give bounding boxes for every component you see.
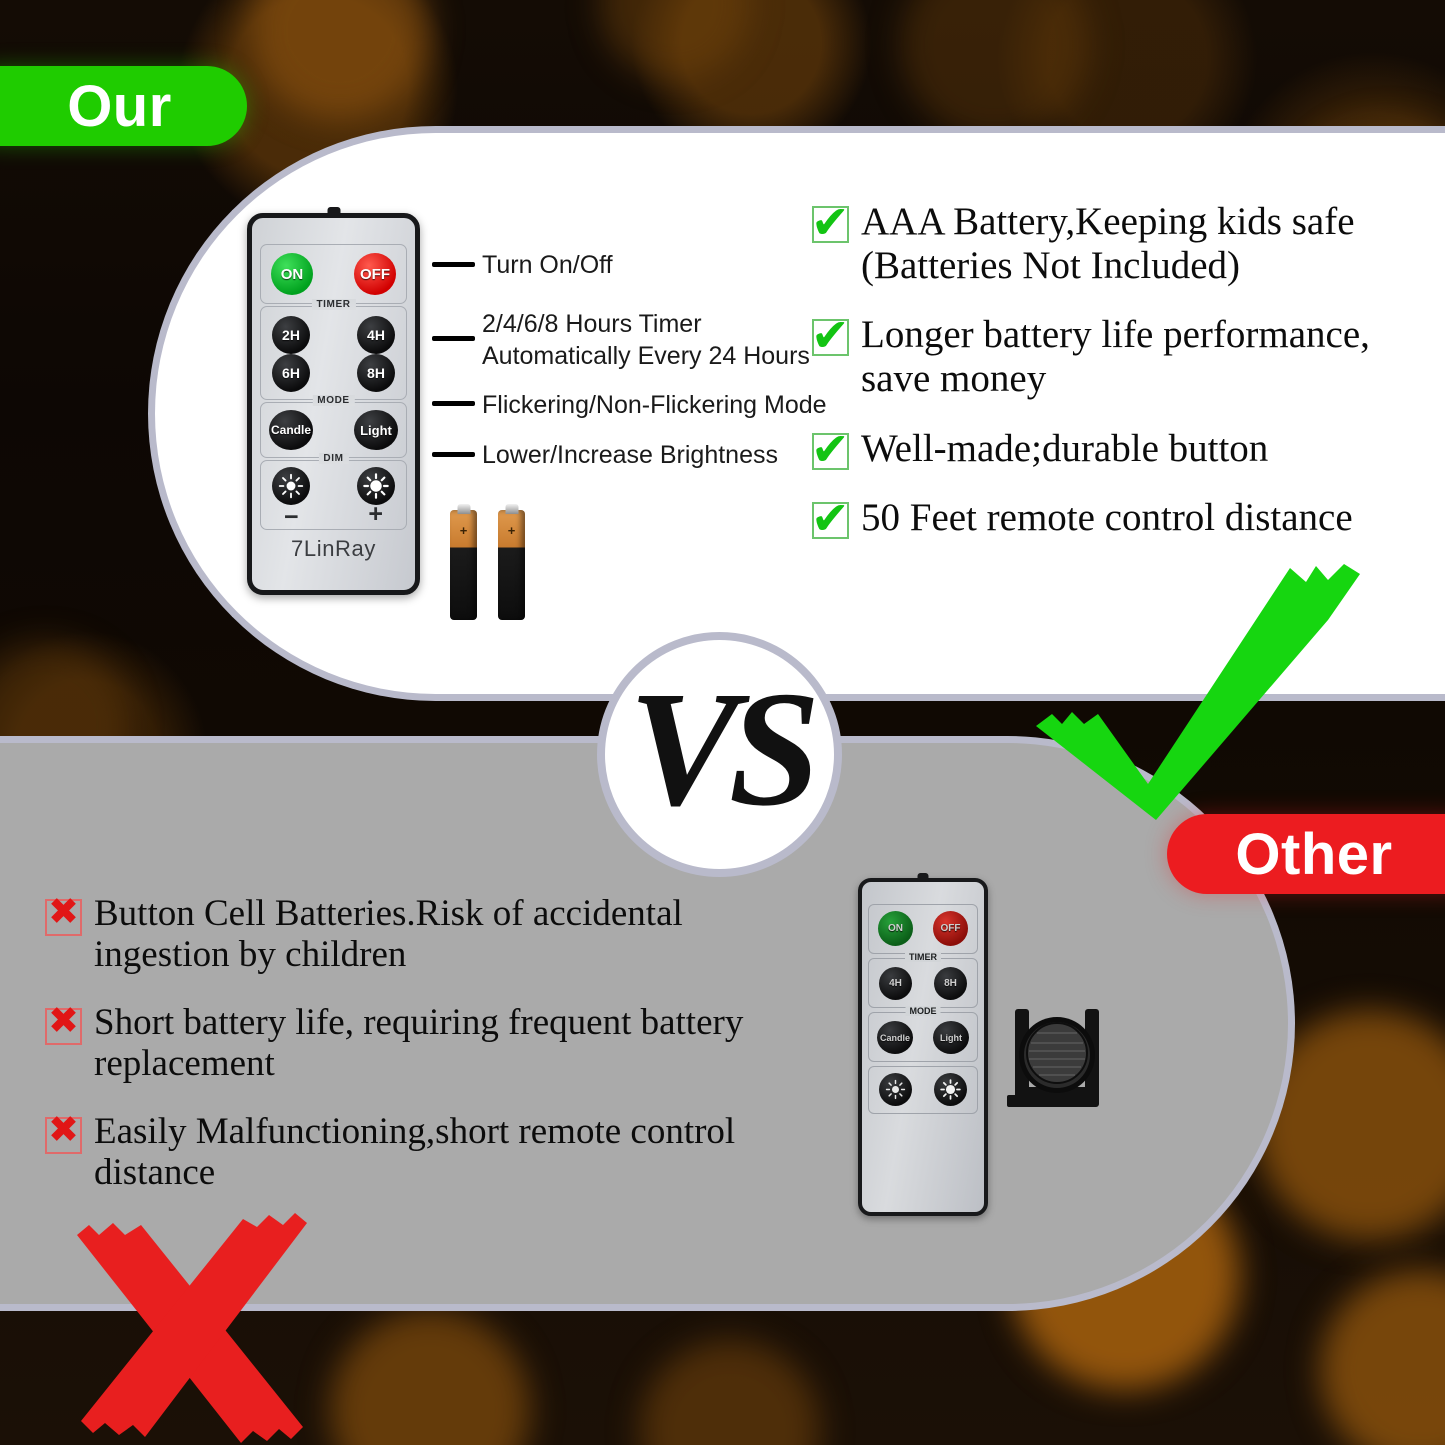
mode-label: MODE (906, 1006, 941, 1016)
brightness-low-icon (885, 1079, 906, 1100)
dim-label: DIM (318, 453, 348, 464)
brightness-low-icon (278, 473, 304, 499)
dim-minus-symbol: − (284, 505, 299, 530)
brightness-high-icon (940, 1079, 961, 1100)
on-button[interactable]: ON (878, 911, 913, 946)
battery-plus-symbol: + (508, 524, 516, 537)
callout-line-1 (432, 262, 475, 267)
battery-cap-icon (505, 504, 518, 514)
callout-label-power: Turn On/Off (482, 249, 613, 281)
vs-badge: VS (597, 632, 842, 877)
drawback-text: Short battery life, requiring frequent b… (94, 1002, 765, 1085)
brightness-high-icon (363, 473, 389, 499)
power-group: ON OFF (260, 244, 407, 304)
x-icon: ✖ (45, 1117, 82, 1154)
list-item: ✔ 50 Feet remote control distance (812, 496, 1427, 540)
callout-line-3 (432, 401, 475, 406)
drawback-text: Button Cell Batteries.Risk of accidental… (94, 893, 765, 976)
list-item: ✖ Easily Malfunctioning,short remote con… (45, 1111, 765, 1194)
list-item: ✖ Short battery life, requiring frequent… (45, 1002, 765, 1085)
timer-label: TIMER (311, 299, 355, 310)
mode-group: MODE Candle Light (868, 1012, 978, 1062)
callout-label-timer: 2/4/6/8 Hours Timer Automatically Every … (482, 308, 810, 372)
timer-group: TIMER 4H 8H (868, 958, 978, 1008)
big-green-check-icon (1028, 548, 1368, 838)
our-feature-list: ✔ AAA Battery,Keeping kids safe (Batteri… (812, 200, 1427, 566)
coin-cell-battery-icon (1005, 1003, 1110, 1113)
timer-8h-button[interactable]: 8H (934, 967, 967, 1000)
mode-candle-button[interactable]: Candle (877, 1021, 913, 1054)
check-icon: ✔ (812, 319, 849, 356)
dim-group (868, 1066, 978, 1114)
list-item: ✖ Button Cell Batteries.Risk of accident… (45, 893, 765, 976)
battery-plus-symbol: + (460, 524, 468, 537)
drawback-text: Easily Malfunctioning,short remote contr… (94, 1111, 765, 1194)
our-badge: Our (0, 66, 247, 146)
x-icon: ✖ (45, 1008, 82, 1045)
timer-4h-button[interactable]: 4H (879, 967, 912, 1000)
dim-group: DIM (260, 460, 407, 530)
battery-cap-icon (457, 504, 470, 514)
mode-light-button[interactable]: Light (933, 1021, 969, 1054)
mode-group: MODE Candle Light (260, 402, 407, 458)
timer-group: TIMER 2H 4H 6H 8H (260, 306, 407, 400)
remote-brand-label: 7LinRay (252, 536, 415, 562)
timer-label: TIMER (905, 952, 941, 962)
check-icon: ✔ (812, 206, 849, 243)
callout-label-mode: Flickering/Non-Flickering Mode (482, 389, 827, 421)
timer-2h-button[interactable]: 2H (272, 316, 310, 354)
comparison-infographic: Our Other ON OFF TIMER 2H 4H 6H 8H MODE … (0, 0, 1445, 1445)
aaa-battery-1: + (450, 510, 477, 620)
timer-8h-button[interactable]: 8H (357, 354, 395, 392)
dim-up-button[interactable] (934, 1073, 967, 1106)
remote-ir-nub (327, 207, 340, 216)
feature-text: 50 Feet remote control distance (861, 496, 1353, 540)
remote-ir-nub (918, 873, 929, 880)
feature-text: AAA Battery,Keeping kids safe (Batteries… (861, 200, 1427, 287)
dim-down-button[interactable] (272, 467, 310, 505)
dim-plus-symbol: + (368, 502, 383, 527)
off-button[interactable]: OFF (933, 911, 968, 946)
dim-down-button[interactable] (879, 1073, 912, 1106)
mode-candle-button[interactable]: Candle (269, 410, 313, 450)
other-remote-control: ON OFF TIMER 4H 8H MODE Candle Light (858, 878, 988, 1216)
timer-4h-button[interactable]: 4H (357, 316, 395, 354)
other-drawback-list: ✖ Button Cell Batteries.Risk of accident… (45, 893, 765, 1220)
mode-light-button[interactable]: Light (354, 410, 398, 450)
callout-label-timer-line1: 2/4/6/8 Hours Timer (482, 308, 810, 340)
list-item: ✔ Longer battery life performance, save … (812, 313, 1427, 400)
timer-6h-button[interactable]: 6H (272, 354, 310, 392)
list-item: ✔ AAA Battery,Keeping kids safe (Batteri… (812, 200, 1427, 287)
on-button[interactable]: ON (271, 253, 313, 295)
check-icon: ✔ (812, 502, 849, 539)
mode-label: MODE (312, 395, 354, 406)
feature-text: Well-made;durable button (861, 427, 1268, 471)
our-remote-control: ON OFF TIMER 2H 4H 6H 8H MODE Candle Lig… (247, 213, 420, 595)
x-icon: ✖ (45, 899, 82, 936)
vs-label: VS (629, 666, 811, 831)
power-group: ON OFF (868, 904, 978, 954)
callout-label-timer-line2: Automatically Every 24 Hours (482, 340, 810, 372)
feature-text: Longer battery life performance, save mo… (861, 313, 1427, 400)
big-red-x-icon (55, 1195, 330, 1445)
callout-line-2 (432, 336, 475, 341)
off-button[interactable]: OFF (354, 253, 396, 295)
check-icon: ✔ (812, 433, 849, 470)
list-item: ✔ Well-made;durable button (812, 427, 1427, 471)
aaa-battery-2: + (498, 510, 525, 620)
callout-label-dim: Lower/Increase Brightness (482, 439, 778, 471)
callout-line-4 (432, 452, 475, 457)
